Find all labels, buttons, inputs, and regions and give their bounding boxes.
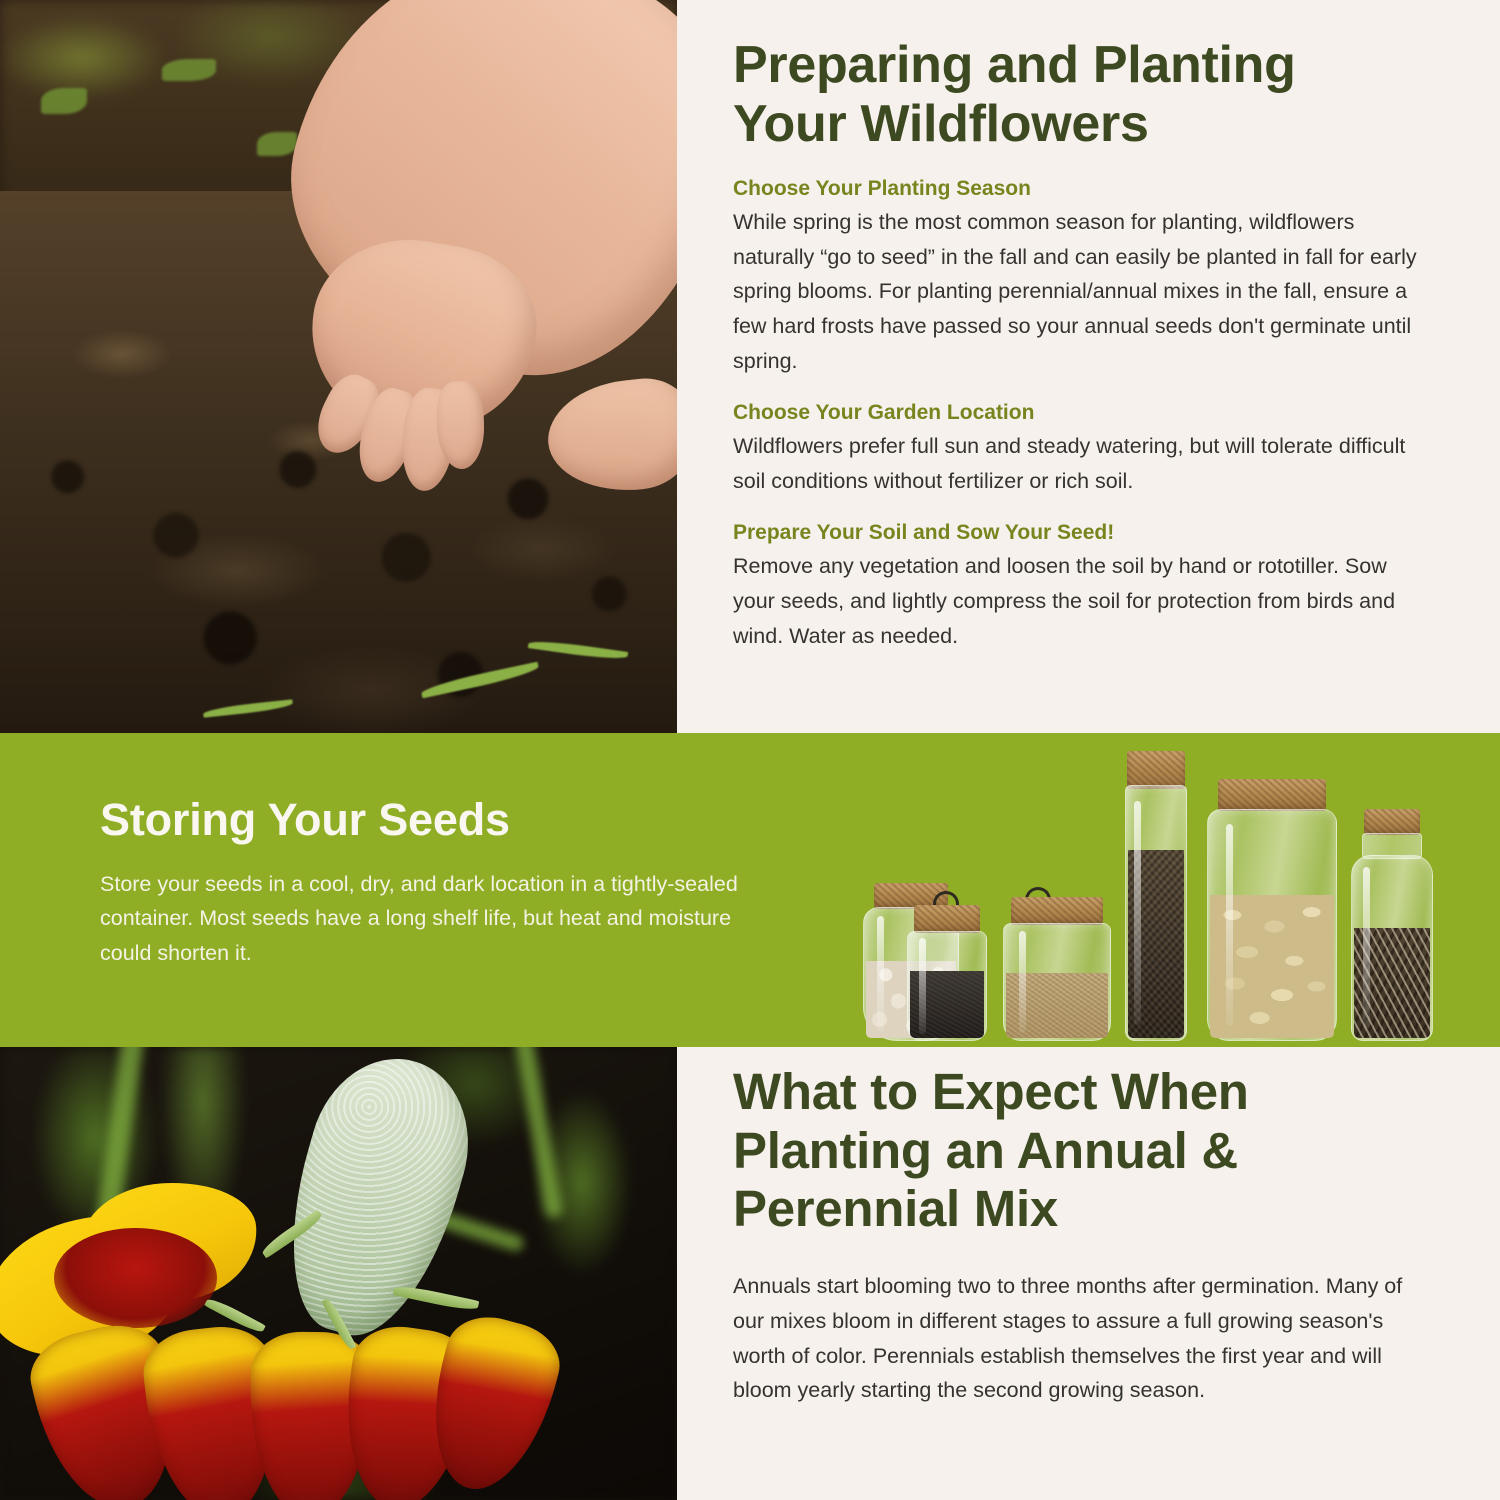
- jar-glass: [907, 931, 987, 1041]
- soil-photo-sprout: [41, 88, 87, 114]
- coneflower-photo: [0, 1047, 677, 1500]
- cork-lid-icon: [1011, 897, 1103, 925]
- body-garden-location: Wildflowers prefer full sun and steady w…: [733, 429, 1433, 499]
- what-to-expect-body: Annuals start blooming two to three mont…: [733, 1269, 1433, 1408]
- storing-seeds-body: Store your seeds in a cool, dry, and dar…: [100, 867, 740, 971]
- jar-glass: [1003, 923, 1111, 1041]
- jar-highlight: [1134, 801, 1141, 1025]
- soil-photo-sprout: [162, 59, 216, 81]
- jar-highlight: [919, 938, 926, 1033]
- page-title: Preparing and Planting Your Wildflowers: [733, 36, 1403, 155]
- cork-lid-icon: [1127, 751, 1185, 789]
- jar-highlight: [877, 916, 884, 1032]
- what-to-expect-section: What to Expect When Planting an Annual &…: [0, 1047, 1500, 1500]
- flower-petal-red-blotch: [54, 1228, 216, 1328]
- storing-seeds-title: Storing Your Seeds: [100, 795, 750, 845]
- cork-lid-icon: [1218, 779, 1326, 811]
- what-to-expect-title: What to Expect When Planting an Annual &…: [733, 1063, 1393, 1239]
- seed-jar-dark-seeds: [1125, 751, 1187, 1041]
- jar-highlight: [1226, 824, 1233, 1026]
- jar-glass: [1125, 785, 1187, 1041]
- jar-highlight: [1019, 931, 1026, 1033]
- planting-section: Preparing and Planting Your Wildflowers …: [0, 0, 1500, 733]
- soil-planting-photo: [0, 0, 677, 733]
- subheading-prepare-soil: Prepare Your Soil and Sow Your Seed!: [733, 519, 1445, 546]
- body-planting-season: While spring is the most common season f…: [733, 205, 1433, 379]
- jar-highlight: [1363, 867, 1370, 1029]
- seed-jar-black-seeds: [907, 899, 987, 1041]
- seed-jars-photo: [855, 741, 1455, 1041]
- cork-lid-icon: [914, 905, 980, 933]
- seed-jar-sunflower-seeds: [1351, 809, 1433, 1041]
- subheading-planting-season: Choose Your Planting Season: [733, 175, 1445, 202]
- soil-photo-sprout: [257, 132, 297, 156]
- what-to-expect-copy: What to Expect When Planting an Annual &…: [733, 1047, 1445, 1500]
- cork-lid-icon: [1364, 809, 1420, 835]
- storing-seeds-copy: Storing Your Seeds Store your seeds in a…: [100, 795, 750, 971]
- subheading-garden-location: Choose Your Garden Location: [733, 399, 1445, 426]
- seed-jar-tan-seeds: [1003, 893, 1111, 1041]
- storing-seeds-section: Storing Your Seeds Store your seeds in a…: [0, 733, 1500, 1047]
- body-prepare-soil: Remove any vegetation and loosen the soi…: [733, 549, 1433, 653]
- planting-copy: Preparing and Planting Your Wildflowers …: [733, 0, 1445, 733]
- seed-jar-pumpkin-seeds: [1207, 779, 1337, 1041]
- jar-glass: [1351, 855, 1433, 1041]
- infographic-page: Preparing and Planting Your Wildflowers …: [0, 0, 1500, 1500]
- jar-glass: [1207, 809, 1337, 1041]
